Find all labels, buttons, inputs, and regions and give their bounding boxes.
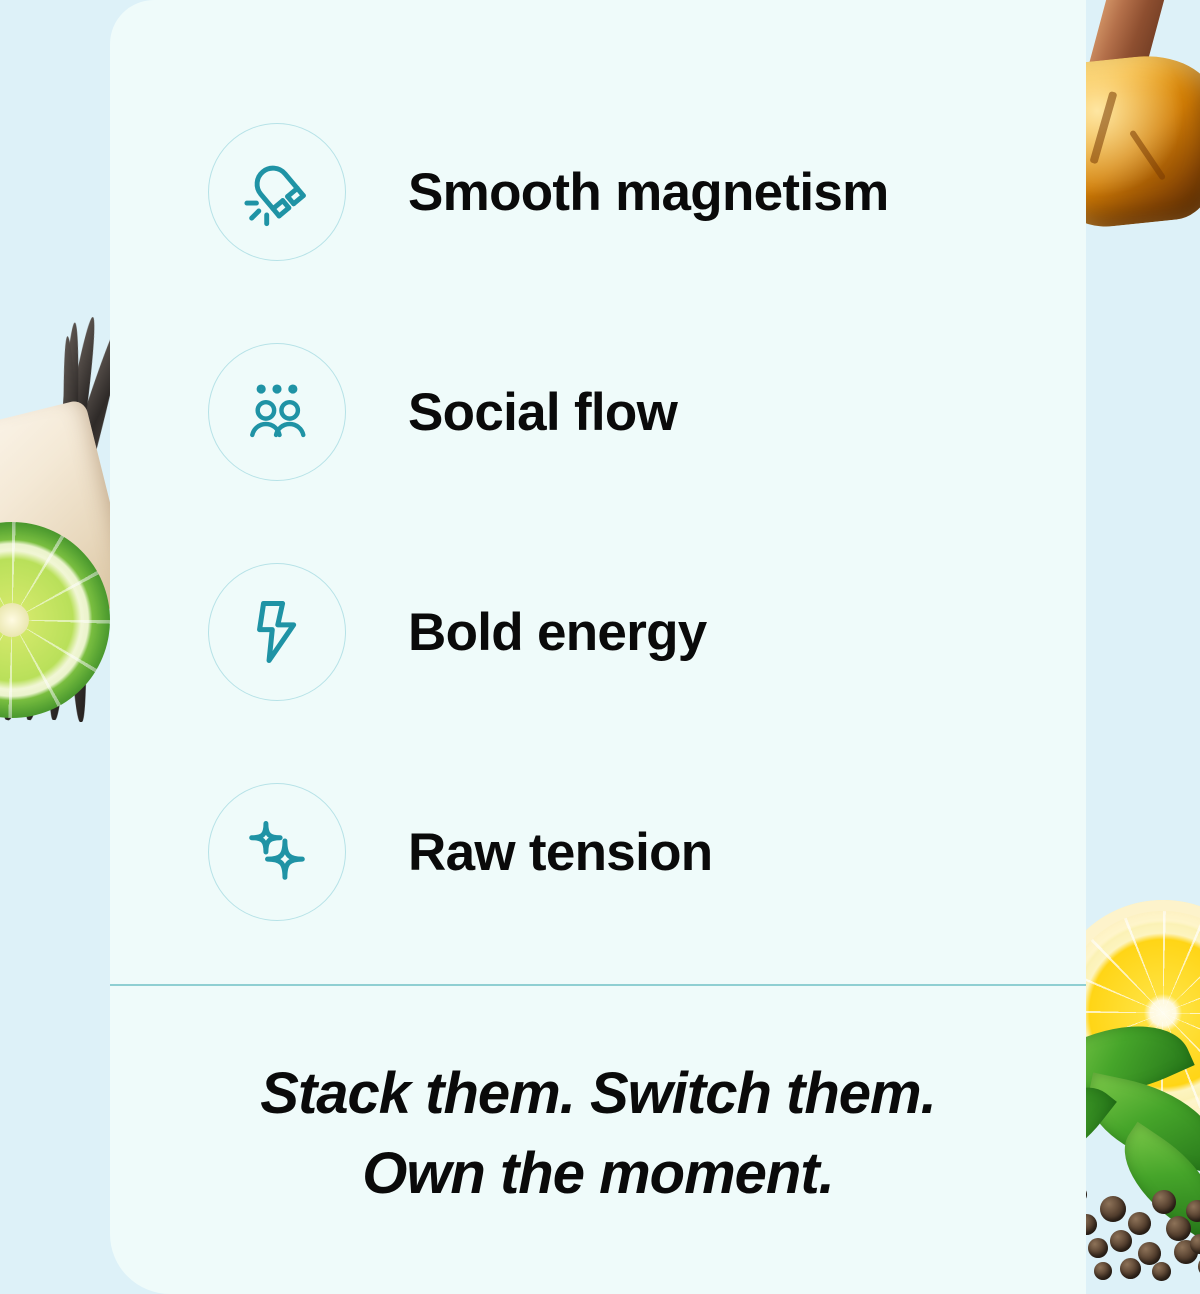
peppercorn-icon [1110,1230,1132,1252]
tagline-line-2: Own the moment. [362,1134,834,1214]
tagline-block: Stack them. Switch them. Own the moment. [110,986,1086,1294]
feature-label: Raw tension [408,822,712,883]
peppercorn-icon [1094,1262,1112,1280]
feature-label: Social flow [408,382,677,443]
peppercorn-icon [1100,1196,1126,1222]
feature-label: Smooth magnetism [408,162,889,223]
feature-row-smooth-magnetism[interactable]: Smooth magnetism [110,82,1086,302]
sparkles-icon [208,783,346,921]
feature-row-social-flow[interactable]: Social flow [110,302,1086,522]
tagline-line-1: Stack them. Switch them. [260,1054,935,1134]
peppercorn-icon [1166,1216,1191,1241]
feature-card: Smooth magnetism Social flow [110,0,1086,1294]
lightning-icon [208,563,346,701]
feature-row-raw-tension[interactable]: Raw tension [110,742,1086,962]
peppercorn-icon [1088,1238,1108,1258]
feature-list: Smooth magnetism Social flow [110,0,1086,962]
people-icon [208,343,346,481]
peppercorn-icon [1120,1258,1141,1279]
feature-label: Bold energy [408,602,707,663]
magnet-icon [208,123,346,261]
peppercorn-icon [1152,1190,1176,1214]
peppercorn-icon [1152,1262,1171,1281]
feature-row-bold-energy[interactable]: Bold energy [110,522,1086,742]
peppercorn-icon [1128,1212,1151,1235]
